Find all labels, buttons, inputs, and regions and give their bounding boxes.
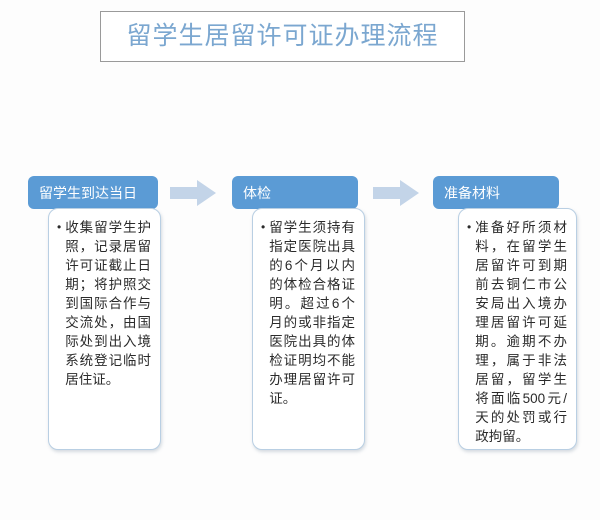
flow-stage-1-header: 留学生到达当日	[28, 176, 158, 209]
flow-stage-1-body: • 收集留学生护照，记录居留许可证截止日期；将护照交到国际合作与交流处，由国际处…	[48, 208, 161, 450]
right-block-arrow-icon	[373, 180, 419, 206]
flow-stage-3-header-label: 准备材料	[433, 186, 500, 200]
right-block-arrow-icon	[170, 180, 216, 206]
flow-stage-2-header: 体检	[232, 176, 358, 209]
process-flowchart: 留学生到达当日 • 收集留学生护照，记录居留许可证截止日期；将护照交到国际合作与…	[0, 0, 600, 520]
bullet-icon: •	[467, 218, 475, 237]
flow-stage-1-body-text: 收集留学生护照，记录居留许可证截止日期；将护照交到国际合作与交流处，由国际处到出…	[65, 218, 151, 389]
flow-stage-2-body-text: 留学生须持有指定医院出具的6个月以内的体检合格证明。超过6个月的或非指定医院出具…	[269, 218, 355, 408]
bullet-icon: •	[57, 218, 65, 237]
flow-stage-3-body: • 准备好所须材料，在留学生居留许可到期前去铜仁市公安局出入境办理居留许可延期。…	[458, 208, 577, 450]
flow-stage-2-header-label: 体检	[232, 186, 271, 200]
flow-stage-3-header: 准备材料	[433, 176, 559, 209]
flow-stage-1-header-label: 留学生到达当日	[28, 186, 137, 200]
flow-stage-2-body: • 留学生须持有指定医院出具的6个月以内的体检合格证明。超过6个月的或非指定医院…	[252, 208, 365, 450]
bullet-icon: •	[261, 218, 269, 237]
flow-stage-3-body-text: 准备好所须材料，在留学生居留许可到期前去铜仁市公安局出入境办理居留许可延期。逾期…	[475, 218, 567, 446]
